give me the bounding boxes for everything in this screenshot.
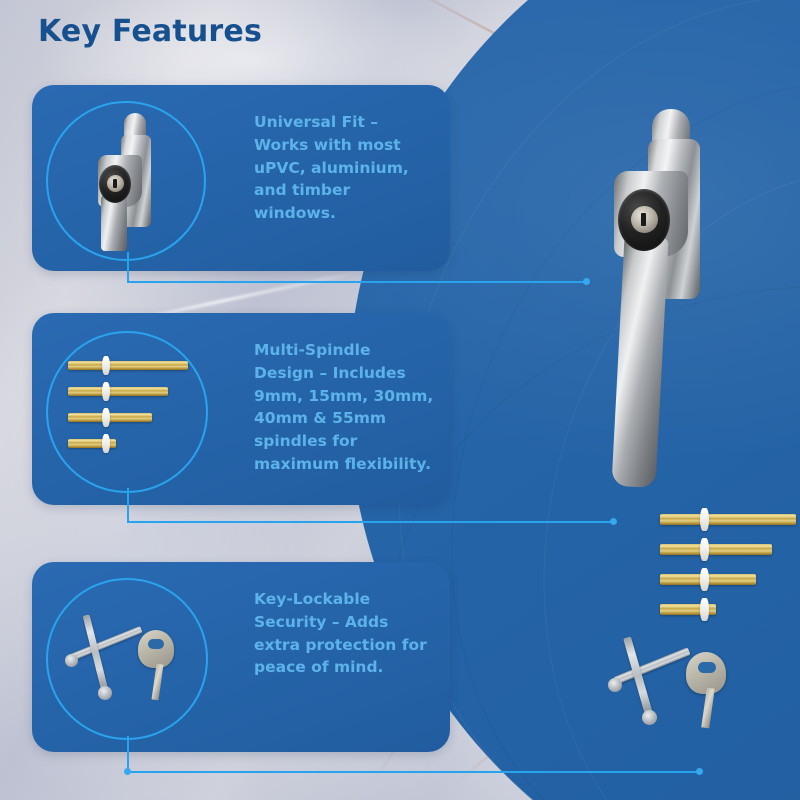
connector-dot-3a bbox=[124, 768, 131, 775]
feature-text-1: Universal Fit – Works with most uPVC, al… bbox=[254, 111, 434, 225]
connector-dot-1 bbox=[583, 278, 590, 285]
feature-card-multi-spindle[interactable]: Multi-Spindle Design – Includes 9mm, 15m… bbox=[32, 313, 450, 505]
spindles-icon bbox=[68, 359, 198, 461]
connector-dot-3 bbox=[696, 768, 703, 775]
product-fixings-large bbox=[612, 620, 742, 730]
connector-dot-2 bbox=[610, 518, 617, 525]
product-handle-large bbox=[600, 105, 740, 525]
feature-text-3: Key-Lockable Security – Adds extra prote… bbox=[254, 588, 434, 679]
infographic-canvas: Key Features Universal Fit – Works with … bbox=[0, 0, 800, 800]
feature-text-2: Multi-Spindle Design – Includes 9mm, 15m… bbox=[254, 339, 434, 476]
page-title: Key Features bbox=[38, 14, 262, 49]
feature-card-universal-fit[interactable]: Universal Fit – Works with most uPVC, al… bbox=[32, 85, 450, 271]
window-handle-icon bbox=[94, 113, 174, 251]
key-and-screws-icon bbox=[68, 602, 190, 708]
feature-card-key-lockable[interactable]: Key-Lockable Security – Adds extra prote… bbox=[32, 562, 450, 752]
